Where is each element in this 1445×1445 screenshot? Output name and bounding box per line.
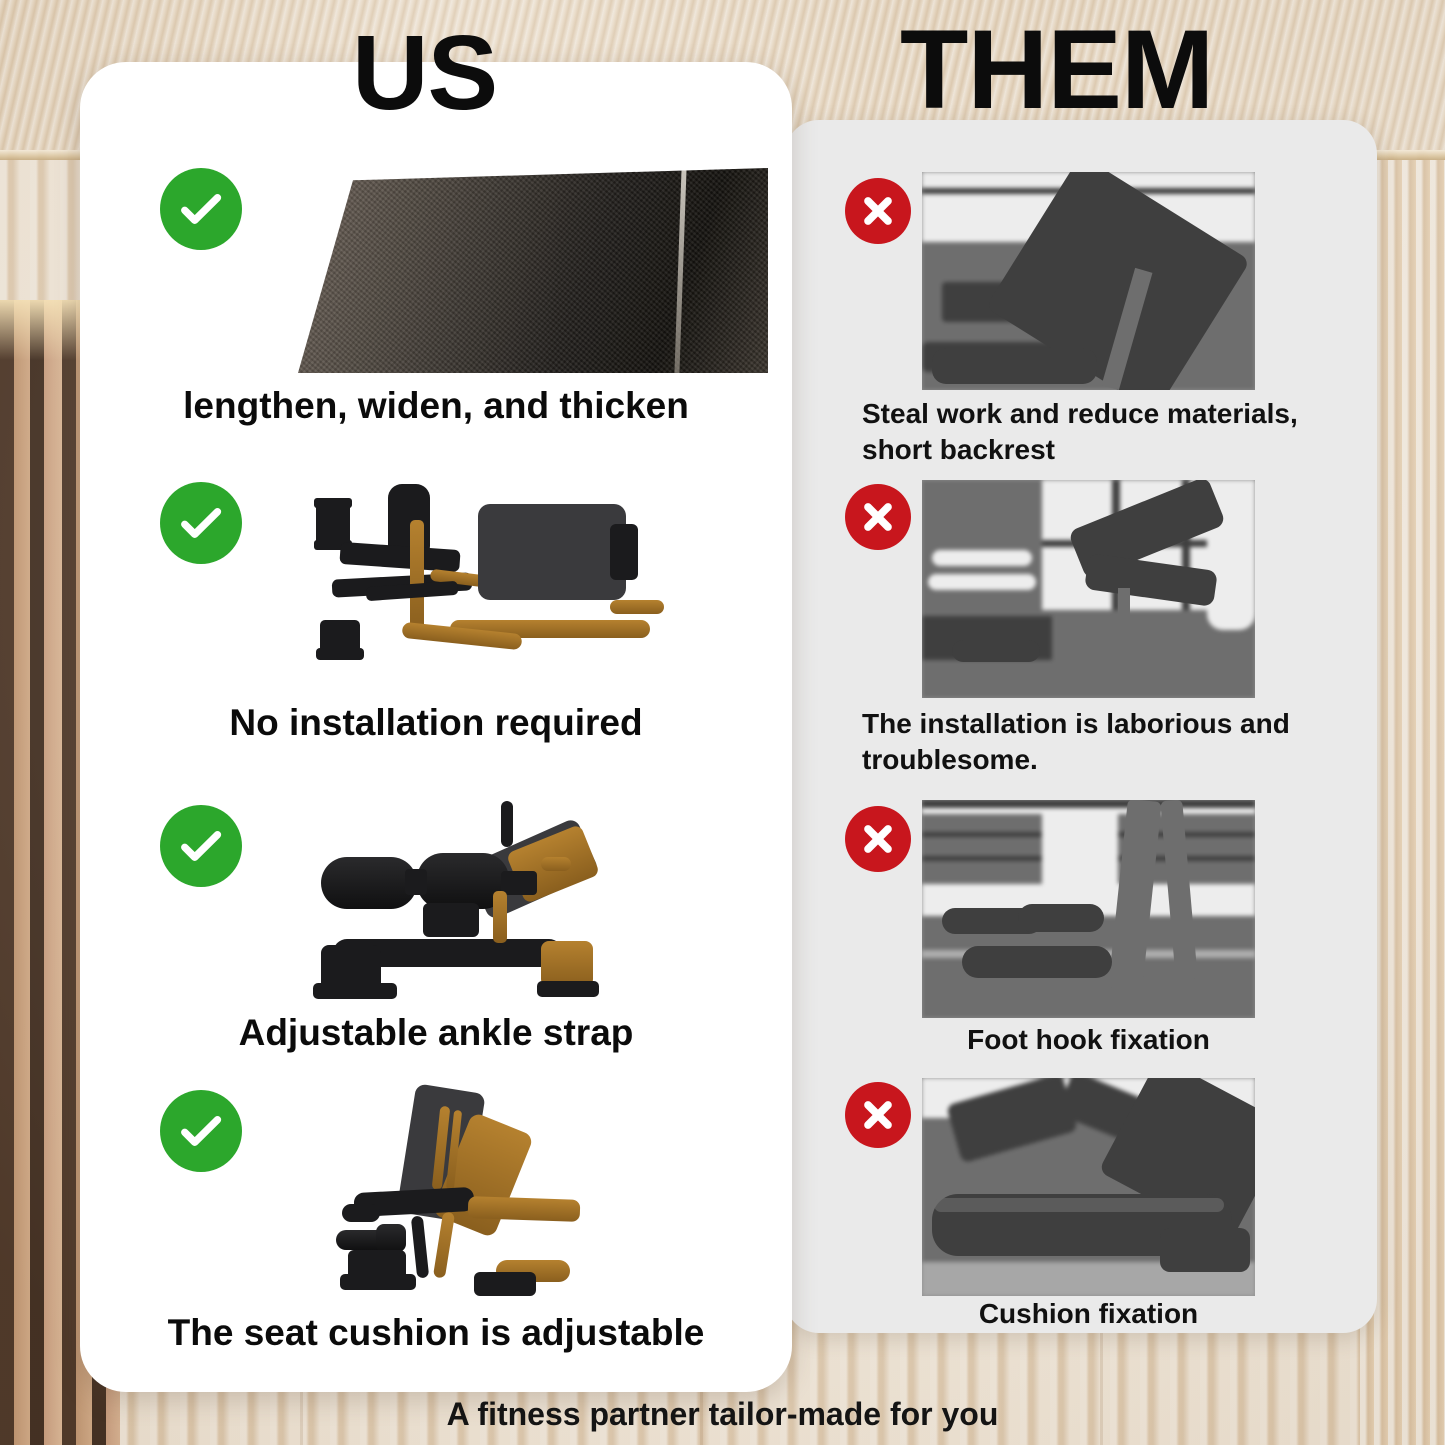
check-circle-icon <box>160 805 242 887</box>
them-item-caption-2: The installation is laborious andtrouble… <box>862 706 1332 779</box>
us-item-caption-3: Adjustable ankle strap <box>80 1012 792 1055</box>
check-circle-icon <box>160 1090 242 1172</box>
cross-circle-icon <box>845 806 911 872</box>
check-circle-icon <box>160 482 242 564</box>
them-item-image-2 <box>922 480 1255 698</box>
them-item-caption-3: Foot hook fixation <box>922 1022 1255 1058</box>
check-circle-icon <box>160 168 242 250</box>
them-item-caption-1: Steal work and reduce materials,short ba… <box>862 396 1332 469</box>
page-title-us: US <box>352 20 497 126</box>
us-item-image-4 <box>318 1082 648 1307</box>
us-item-caption-1: lengthen, widen, and thicken <box>80 385 792 428</box>
cross-circle-icon <box>845 484 911 550</box>
us-item-image-1 <box>268 168 768 373</box>
footer-tagline: A fitness partner tailor-made for you <box>0 1396 1445 1433</box>
them-item-caption-4: Cushion fixation <box>922 1296 1255 1332</box>
us-item-image-2 <box>310 480 680 690</box>
us-item-caption-2: No installation required <box>80 702 792 745</box>
cross-circle-icon <box>845 178 911 244</box>
them-item-image-4 <box>922 1078 1255 1296</box>
cross-circle-icon <box>845 1082 911 1148</box>
us-item-caption-4: The seat cushion is adjustable <box>80 1312 792 1355</box>
them-item-image-1 <box>922 172 1255 390</box>
them-item-image-3 <box>922 800 1255 1018</box>
us-item-image-3 <box>305 795 650 1010</box>
page-title-them: THEM <box>900 14 1213 126</box>
